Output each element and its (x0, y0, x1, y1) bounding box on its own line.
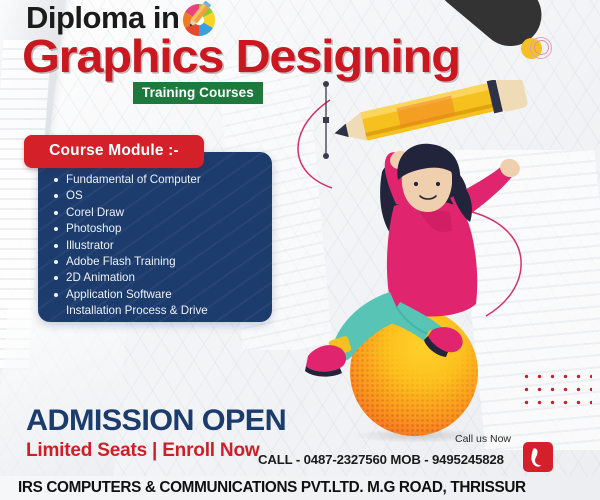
shoe-left (305, 345, 346, 376)
hero-illustration (290, 80, 580, 380)
list-item: OS (52, 188, 267, 204)
main-headline: Graphics Designing (22, 33, 460, 79)
limited-seats-subheading: Limited Seats | Enroll Now (26, 441, 259, 460)
pencil-icon (331, 80, 529, 150)
course-module-list: Fundamental of Computer OS Corel Draw Ph… (52, 172, 267, 320)
list-item: Application Software (52, 287, 267, 303)
illustration-svg (290, 80, 580, 380)
admission-open-heading: ADMISSION OPEN (26, 406, 286, 436)
list-item: Illustrator (52, 238, 267, 254)
list-item: Adobe Flash Training (52, 254, 267, 270)
contact-numbers: CALL - 0487-2327560 MOB - 9495245828 (258, 452, 504, 467)
diploma-kicker: Diploma in (26, 2, 179, 33)
list-item: 2D Animation (52, 270, 267, 286)
phone-button[interactable] (523, 442, 553, 472)
course-module-banner: Course Module :- (24, 135, 204, 168)
training-courses-badge: Training Courses (133, 82, 263, 104)
call-us-now-label: Call us Now (455, 433, 511, 445)
list-item-continuation: Installation Process & Drive (52, 303, 267, 319)
phone-handset-icon (523, 442, 553, 472)
list-item: Fundamental of Computer (52, 172, 267, 188)
company-name: IRS COMPUTERS & COMMUNICATIONS PVT.LTD. … (18, 479, 526, 497)
list-item: Photoshop (52, 221, 267, 237)
footer-bar: IRS COMPUTERS & COMMUNICATIONS PVT.LTD. … (0, 476, 600, 500)
poster-canvas: Diploma in Graphics Designing Training C… (0, 0, 600, 500)
building-silhouette-bottom-left (0, 300, 129, 500)
red-dot-grid-decoration (520, 370, 592, 412)
list-item: Corel Draw (52, 205, 267, 221)
pink-inner-ring-decoration (534, 40, 549, 55)
